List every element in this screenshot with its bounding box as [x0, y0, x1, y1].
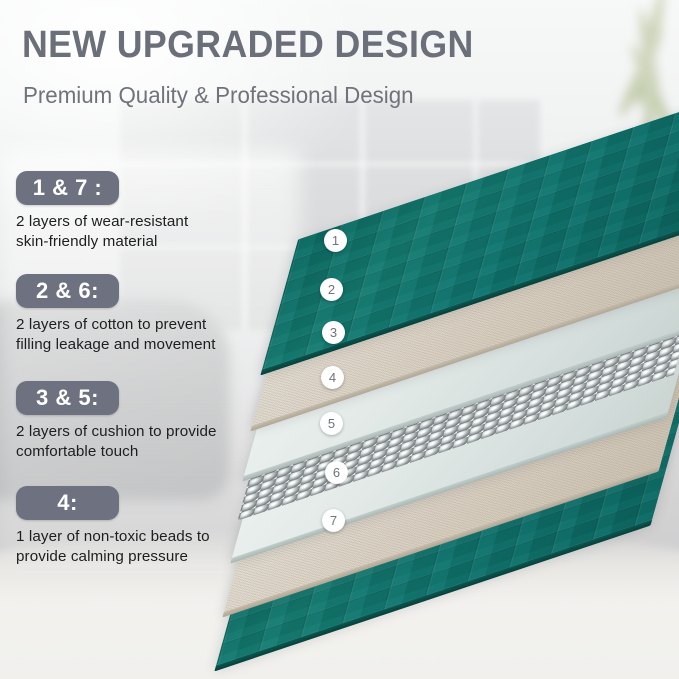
- feature-item-2-6: 2 & 6: 2 layers of cotton to prevent fil…: [16, 274, 286, 355]
- feature-badge-1-7: 1 & 7 :: [16, 171, 119, 205]
- layer-number-5: 5: [320, 412, 343, 435]
- feature-description-1-7: 2 layers of wear-resistant skin-friendly…: [16, 212, 286, 252]
- layer-number-2: 2: [320, 278, 343, 301]
- feature-item-3-5: 3 & 5: 2 layers of cushion to provide co…: [16, 381, 286, 462]
- layer-number-3: 3: [322, 321, 345, 344]
- infographic-canvas: NEW UPGRADED DESIGN Premium Quality & Pr…: [0, 0, 679, 679]
- layer-number-7: 7: [322, 509, 345, 532]
- feature-badge-2-6: 2 & 6:: [16, 274, 119, 308]
- feature-badge-4: 4:: [16, 486, 119, 520]
- layer-number-1: 1: [324, 229, 347, 252]
- feature-description-3-5: 2 layers of cushion to provide comfortab…: [16, 422, 286, 462]
- layer-number-6: 6: [325, 461, 348, 484]
- layer-number-4: 4: [321, 366, 344, 389]
- feature-badge-3-5: 3 & 5:: [16, 381, 119, 415]
- feature-item-1-7: 1 & 7 : 2 layers of wear-resistant skin-…: [16, 171, 286, 252]
- feature-description-2-6: 2 layers of cotton to prevent filling le…: [16, 315, 286, 355]
